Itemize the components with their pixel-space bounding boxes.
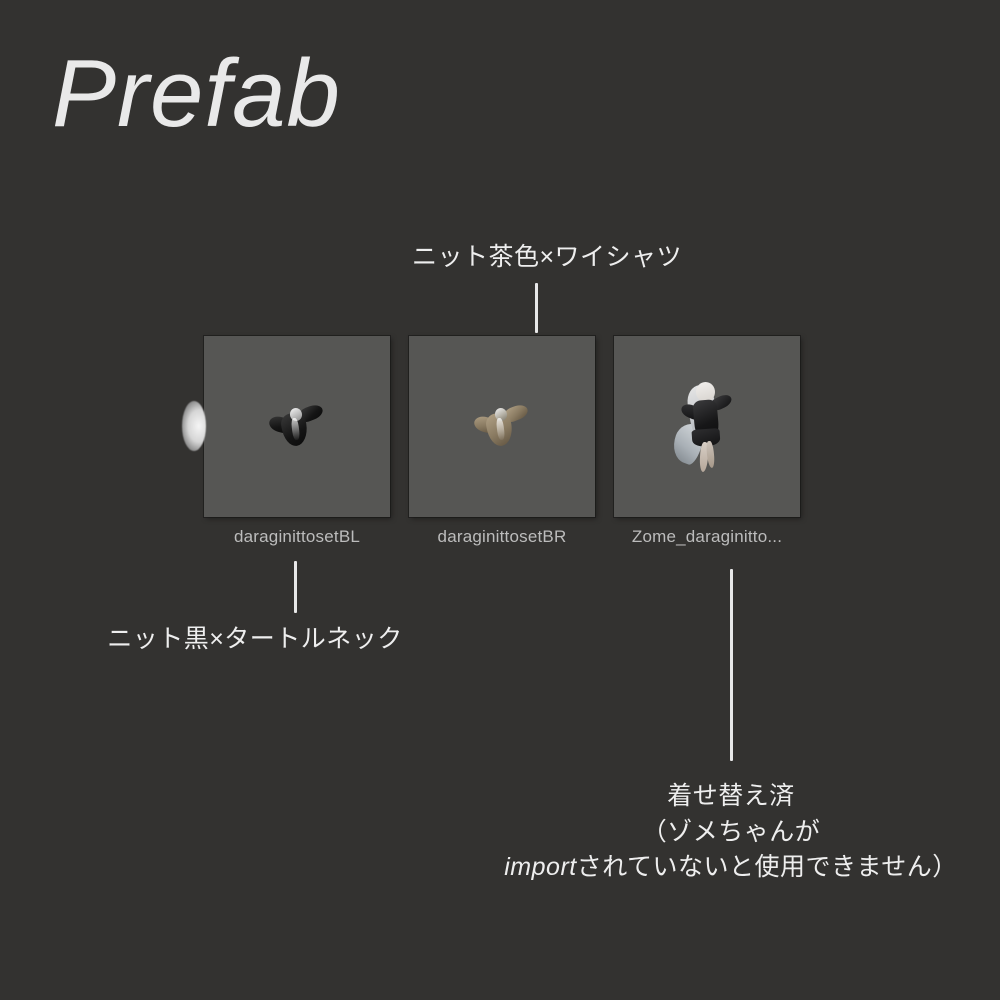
annotation-knit-black-turtleneck: ニット黒×タートルネック: [107, 622, 403, 658]
asset-cell-daraginittosetBR[interactable]: daraginittosetBR: [409, 336, 595, 547]
note-line-1: 着せ替え済: [667, 782, 795, 810]
note-line-3-rest: されていないと使用できません）: [577, 853, 958, 881]
character-avatar-icon: [672, 379, 742, 475]
prefab-asset-grid: daraginittosetBL daraginittosetBR: [204, 336, 800, 547]
asset-thumbnail[interactable]: [204, 336, 390, 517]
knit-garment-black-icon: [269, 401, 325, 453]
asset-thumbnail[interactable]: [614, 336, 800, 517]
asset-label: daraginittosetBR: [438, 527, 567, 547]
knit-garment-brown-icon: [474, 401, 530, 453]
connector-line-bottom-left: [294, 561, 297, 613]
note-line-2: （ゾメちゃんが: [642, 818, 821, 846]
edge-orb-decoration: [182, 401, 206, 451]
asset-cell-daraginittosetBL[interactable]: daraginittosetBL: [204, 336, 390, 547]
page-title: Prefab: [52, 46, 341, 142]
connector-line-top: [535, 283, 538, 333]
note-line-3-latin: import: [504, 853, 576, 881]
asset-cell-zome-daraginitto[interactable]: Zome_daraginitto...: [614, 336, 800, 547]
annotation-knit-brown-dress-shirt: ニット茶色×ワイシャツ: [412, 240, 682, 276]
annotation-already-dressed-note: 着せ替え済 （ゾメちゃんが importされていないと使用できません）: [504, 779, 957, 886]
asset-label: Zome_daraginitto...: [632, 527, 782, 547]
asset-thumbnail[interactable]: [409, 336, 595, 517]
prefab-overview-canvas: Prefab ニット茶色×ワイシャツ daraginittosetBL: [0, 0, 1000, 1000]
connector-line-bottom-right: [730, 569, 733, 761]
asset-label: daraginittosetBL: [234, 527, 360, 547]
